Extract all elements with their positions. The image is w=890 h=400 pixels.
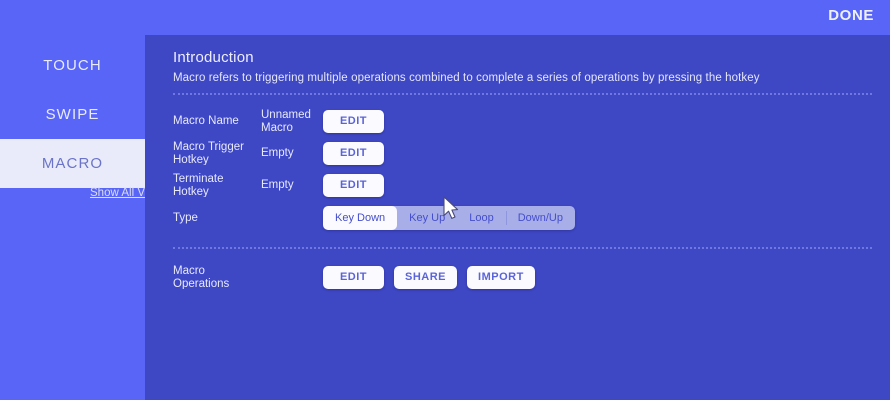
- row-label: Macro Name: [173, 115, 261, 128]
- sidebar-item-touch[interactable]: TOUCH: [0, 41, 145, 90]
- macro-operations-row: Macro Operations EDIT SHARE IMPORT: [173, 261, 872, 293]
- row-label: Macro Trigger Hotkey: [173, 141, 261, 165]
- row-value: Unnamed Macro: [261, 109, 323, 133]
- type-option-loop[interactable]: Loop: [457, 206, 505, 230]
- terminate-hotkey-edit-button[interactable]: EDIT: [323, 174, 384, 197]
- done-button[interactable]: DONE: [828, 7, 874, 24]
- row-value: Empty: [261, 179, 323, 192]
- type-option-key-up[interactable]: Key Up: [397, 206, 457, 230]
- macro-settings-screen: DONE TOUCH SWIPE MACRO Show All V Introd…: [0, 0, 890, 400]
- divider: [173, 93, 872, 95]
- type-option-key-down[interactable]: Key Down: [323, 206, 397, 230]
- divider: [173, 247, 872, 249]
- top-bar: DONE: [0, 0, 890, 35]
- operations-share-button[interactable]: SHARE: [394, 266, 457, 289]
- sidebar: TOUCH SWIPE MACRO Show All V: [0, 35, 145, 400]
- sidebar-item-swipe[interactable]: SWIPE: [0, 90, 145, 139]
- macro-trigger-hotkey-edit-button[interactable]: EDIT: [323, 142, 384, 165]
- operations-import-button[interactable]: IMPORT: [467, 266, 535, 289]
- row-value: Empty: [261, 147, 323, 160]
- macro-name-row: Macro Name Unnamed Macro EDIT: [173, 105, 872, 137]
- macro-name-edit-button[interactable]: EDIT: [323, 110, 384, 133]
- sidebar-item-macro[interactable]: MACRO: [0, 139, 145, 188]
- row-label: Terminate Hotkey: [173, 173, 261, 197]
- sidebar-item-label: TOUCH: [43, 57, 102, 74]
- content-panel: Introduction Macro refers to triggering …: [145, 35, 890, 400]
- introduction-description: Macro refers to triggering multiple oper…: [173, 72, 872, 84]
- sidebar-item-label: SWIPE: [46, 106, 100, 123]
- macro-trigger-hotkey-row: Macro Trigger Hotkey Empty EDIT: [173, 137, 872, 169]
- introduction-title: Introduction: [173, 49, 872, 66]
- show-all-link[interactable]: Show All V: [0, 187, 145, 199]
- type-option-down-up[interactable]: Down/Up: [506, 206, 575, 230]
- type-row: Type Key Down Key Up Loop Down/Up: [173, 201, 872, 235]
- sidebar-item-label: MACRO: [42, 155, 103, 172]
- operations-edit-button[interactable]: EDIT: [323, 266, 384, 289]
- type-segmented-control[interactable]: Key Down Key Up Loop Down/Up: [323, 206, 575, 230]
- terminate-hotkey-row: Terminate Hotkey Empty EDIT: [173, 169, 872, 201]
- row-label: Macro Operations: [173, 265, 261, 289]
- row-label: Type: [173, 212, 261, 225]
